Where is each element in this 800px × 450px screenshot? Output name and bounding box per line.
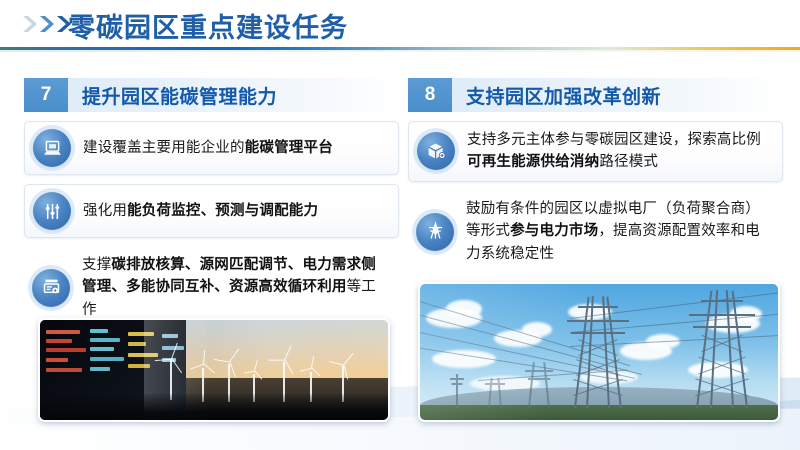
data-settings-icon <box>32 269 70 307</box>
list-item[interactable]: 鼓励有条件的园区以虚拟电厂（负荷聚合商）等形式参与电力市场，提高资源配置效率和电… <box>408 191 783 272</box>
photo-bottom-shadow <box>40 394 388 420</box>
chevron-2-icon <box>39 14 55 34</box>
text-plain: 强化用 <box>83 203 127 219</box>
list-item-text: 支撑碳排放核算、源网匹配调节、电力需求侧管理、多能协同互补、资源高效循环利用等工… <box>82 254 389 321</box>
list-item[interactable]: 支撑碳排放核算、源网匹配调节、电力需求侧管理、多能协同互补、资源高效循环利用等工… <box>24 247 399 328</box>
text-bold: 能负荷监控、预测与调配能力 <box>127 203 318 219</box>
header-rule-shadow <box>0 50 800 52</box>
photo-sheen <box>420 284 778 420</box>
section-7-title: 提升园区能碳管理能力 <box>82 82 277 109</box>
slide-header: 零碳园区重点建设任务 <box>0 0 800 52</box>
text-plain-tail: 路径模式 <box>599 154 658 170</box>
text-plain: 支撑 <box>82 257 111 273</box>
section-8-column: 8 支持园区加强改革创新 支持多元主体参与零碳园区建设，探索高比例可再生能源供给… <box>408 78 783 272</box>
section-8-header: 8 支持园区加强改革创新 <box>408 78 783 112</box>
sliders-equalizer-icon <box>33 192 71 230</box>
list-item-text: 鼓励有条件的园区以虚拟电厂（负荷聚合商）等形式参与电力市场，提高资源配置效率和电… <box>466 198 773 265</box>
section-8-title: 支持园区加强改革创新 <box>466 82 661 109</box>
section-7-number: 7 <box>24 78 68 112</box>
page-title: 零碳园区重点建设任务 <box>68 6 348 45</box>
section-8-number: 8 <box>408 78 452 112</box>
laptop-monitor-icon <box>33 129 71 167</box>
cube-box-icon <box>417 132 455 170</box>
list-item[interactable]: 支持多元主体参与零碳园区建设，探索高比例可再生能源供给消纳路径模式 <box>408 121 783 182</box>
list-item-text: 强化用能负荷监控、预测与调配能力 <box>83 200 318 222</box>
list-item[interactable]: 建设覆盖主要用能企业的能碳管理平台 <box>24 121 399 175</box>
list-item-text: 建设覆盖主要用能企业的能碳管理平台 <box>83 137 333 159</box>
section-7-header: 7 提升园区能碳管理能力 <box>24 78 399 112</box>
transmission-towers-photo <box>418 282 780 422</box>
text-bold: 可再生能源供给消纳 <box>467 154 599 170</box>
power-pylon-icon <box>416 213 454 251</box>
list-item[interactable]: 强化用能负荷监控、预测与调配能力 <box>24 184 399 238</box>
text-plain: 支持多元主体参与零碳园区建设，探索高比例 <box>467 132 761 148</box>
text-bold: 能碳管理平台 <box>245 140 333 156</box>
text-plain: 建设覆盖主要用能企业的 <box>83 140 245 156</box>
text-bold: 碳排放核算、源网匹配调节、电力需求侧管理、多能协同互补、资源高效循环利用 <box>82 257 376 295</box>
section-7-column: 7 提升园区能碳管理能力 建设覆盖主要用能企业的能碳管理平台 强化用能负荷监控 <box>24 78 399 328</box>
chevron-1-icon <box>22 14 38 34</box>
control-room-wind-farm-photo <box>38 318 390 422</box>
list-item-text: 支持多元主体参与零碳园区建设，探索高比例可再生能源供给消纳路径模式 <box>467 129 772 174</box>
text-bold: 参与电力市场 <box>510 223 598 239</box>
double-chevron-right-icon <box>22 14 72 34</box>
